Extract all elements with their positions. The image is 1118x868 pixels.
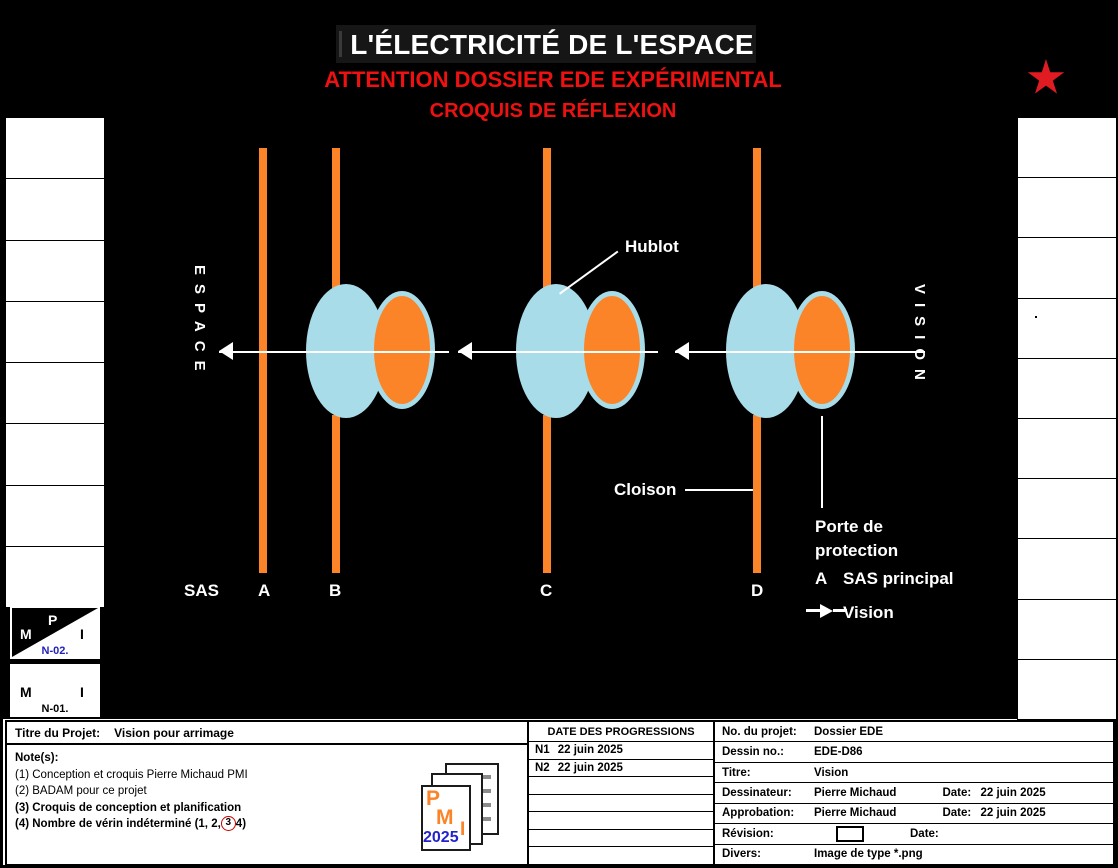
legend-vision-label: Vision (843, 603, 894, 623)
info-value-title: Vision (814, 767, 848, 779)
right-grid-cell[interactable] (1018, 660, 1116, 719)
callout-porte-line2: protection (815, 541, 898, 561)
right-grid-dot-mark (1035, 316, 1037, 318)
pmi-icon-letter-m: M (436, 806, 454, 830)
logo-n02-tag: N-02. (12, 645, 98, 657)
left-grid-cell[interactable] (6, 179, 104, 240)
right-grid-cell[interactable] (1018, 359, 1116, 419)
label-vision-text: VISION (907, 284, 931, 389)
wall-B-lower (332, 415, 340, 573)
label-vision: VISION (906, 284, 932, 397)
project-title-value: Vision pour arrimage (114, 726, 234, 740)
progression-date: 22 juin 2025 (558, 744, 623, 756)
pmi-document-icon: P M I 2025 (419, 761, 501, 853)
right-grid-cell[interactable] (1018, 178, 1116, 238)
porte-leader (821, 416, 823, 508)
left-grid-cell[interactable] (6, 363, 104, 424)
note-4-suffix-a: (1, 2, (195, 818, 221, 830)
title-banner: L'ÉLECTRICITÉ DE L'ESPACE ATTENTION DOSS… (3, 3, 1115, 129)
info-row-draftsman[interactable]: Dessinateur: Pierre Michaud Date: 22 jui… (715, 783, 1113, 803)
left-grid-cell[interactable] (6, 547, 104, 607)
right-grid-cell[interactable] (1018, 238, 1116, 298)
progression-date: 22 juin 2025 (558, 762, 623, 774)
info-key-draftsman: Dessinateur: (722, 787, 814, 799)
info-row-title[interactable]: Titre: Vision (715, 763, 1113, 783)
right-grid-cell[interactable] (1018, 539, 1116, 599)
cloison-leader (685, 489, 753, 491)
info-key-drawing-number: Dessin no.: (722, 746, 814, 758)
info-key-title: Titre: (722, 767, 814, 779)
info-value-approval: Pierre Michaud (814, 807, 896, 819)
info-key-project-number: No. du projet: (722, 726, 814, 738)
title-block: Titre du Projet: Vision pour arrimage No… (5, 720, 1115, 866)
logo-n02-letter-i: I (80, 626, 84, 642)
right-grid-cell[interactable] (1018, 600, 1116, 660)
info-row-approval[interactable]: Approbation: Pierre Michaud Date: 22 jui… (715, 804, 1113, 824)
title-block-left: Titre du Projet: Vision pour arrimage No… (5, 720, 529, 866)
info-key-approval: Approbation: (722, 807, 814, 819)
progressions-table: DATE DES PROGRESSIONS N1 22 juin 2025 N2… (529, 720, 715, 866)
callout-cloison: Cloison (614, 480, 676, 500)
title-tick-mark (339, 31, 342, 57)
axis-line-seg1 (219, 351, 449, 353)
progression-row[interactable] (529, 795, 713, 813)
diagram-canvas: L'ÉLECTRICITÉ DE L'ESPACE ATTENTION DOSS… (3, 3, 1115, 719)
info-row-drawing-number[interactable]: Dessin no.: EDE-D86 (715, 742, 1113, 762)
page-title: L'ÉLECTRICITÉ DE L'ESPACE (343, 28, 761, 62)
right-margin-grid (1017, 117, 1117, 720)
info-value-drawing-number: EDE-D86 (814, 746, 863, 758)
left-margin-grid (5, 117, 105, 608)
flow-arrow-1 (219, 342, 233, 360)
info-key-revision-date: Date: (910, 828, 948, 840)
wall-A (259, 148, 267, 573)
logo-n01-tag: N-01. (12, 703, 98, 715)
flow-arrow-3 (675, 342, 689, 360)
station-label-sas: SAS (184, 581, 219, 601)
pmi-logo-n01[interactable]: M P I N-01. (10, 664, 100, 717)
left-grid-cell[interactable] (6, 241, 104, 302)
left-grid-cell[interactable] (6, 424, 104, 485)
legend-sas-key: A (815, 569, 827, 589)
warning-title: ATTENTION DOSSIER EDE EXPÉRIMENTAL (243, 67, 863, 93)
info-key-approval-date: Date: (942, 807, 980, 819)
label-espace-text: ESPACE (187, 265, 211, 380)
station-label-d: D (751, 581, 763, 601)
left-grid-cell[interactable] (6, 486, 104, 547)
progression-id: N2 (535, 762, 550, 774)
right-grid-cell[interactable] (1018, 479, 1116, 539)
pmi-logo-n02[interactable]: M P I N-02. (10, 606, 100, 659)
info-key-draftsman-date: Date: (942, 787, 980, 799)
project-title-key: Titre du Projet: (15, 726, 100, 740)
info-key-revision: Révision: (722, 828, 814, 840)
info-value-draftsman: Pierre Michaud (814, 787, 896, 799)
pmi-icon-letter-i: I (460, 819, 465, 841)
axis-line-seg2 (458, 351, 658, 353)
wall-D-lower (753, 415, 761, 573)
progression-row[interactable] (529, 847, 713, 864)
note-4-suffix-b: 4) (236, 818, 246, 830)
progression-row[interactable]: N2 22 juin 2025 (529, 760, 713, 778)
callout-porte-line1: Porte de (815, 517, 883, 537)
legend-vision-arrow-icon (806, 604, 848, 618)
station-label-a: A (258, 581, 270, 601)
module-2-door (579, 291, 645, 409)
revision-checkbox[interactable] (836, 826, 864, 842)
progression-row[interactable] (529, 830, 713, 848)
drawing-sheet: L'ÉLECTRICITÉ DE L'ESPACE ATTENTION DOSS… (0, 0, 1118, 868)
note-4-text: (4) Nombre de vérin indéterminé (15, 818, 191, 830)
wall-B-upper (332, 148, 340, 288)
note-4-circled-three: 3 (221, 816, 236, 831)
progression-row[interactable]: N1 22 juin 2025 (529, 742, 713, 760)
label-espace: ESPACE (186, 265, 212, 388)
subtitle: CROQUIS DE RÉFLEXION (243, 99, 863, 123)
progression-id: N1 (535, 744, 550, 756)
progressions-header: DATE DES PROGRESSIONS (529, 722, 713, 742)
info-value-draftsman-date: 22 juin 2025 (980, 787, 1045, 799)
station-label-c: C (540, 581, 552, 601)
project-title-row: Titre du Projet: Vision pour arrimage (7, 722, 527, 745)
wall-C-upper (543, 148, 551, 288)
logo-n01-letter-i: I (80, 684, 84, 700)
right-grid-cell[interactable] (1018, 299, 1116, 359)
wall-C-lower (543, 415, 551, 573)
logo-n01-letter-p: P (48, 669, 57, 685)
wall-D-upper (753, 148, 761, 288)
left-grid-cell[interactable] (6, 302, 104, 363)
flow-arrow-2 (458, 342, 472, 360)
info-row-misc[interactable]: Divers: Image de type *.png (715, 845, 1113, 864)
info-value-project-number: Dossier EDE (814, 726, 883, 738)
callout-hublot: Hublot (625, 237, 679, 257)
progression-row[interactable] (529, 777, 713, 795)
info-value-misc: Image de type *.png (814, 848, 923, 860)
pmi-icon-year: 2025 (423, 829, 459, 847)
logo-n01-letter-m: M (20, 684, 32, 700)
station-label-b: B (329, 581, 341, 601)
left-grid-cell[interactable] (6, 118, 104, 179)
drawing-info-table: No. du projet: Dossier EDE Dessin no.: E… (715, 720, 1115, 866)
notes-area: Note(s): (1) Conception et croquis Pierr… (7, 745, 527, 864)
right-grid-cell[interactable] (1018, 118, 1116, 178)
info-value-approval-date: 22 juin 2025 (980, 807, 1045, 819)
logo-n02-letter-m: M (20, 626, 32, 642)
axis-line-seg3 (675, 351, 865, 353)
info-key-misc: Divers: (722, 848, 814, 860)
info-row-project-number[interactable]: No. du projet: Dossier EDE (715, 722, 1113, 742)
legend-sas-label: SAS principal (843, 569, 954, 589)
logo-n02-letter-p: P (48, 612, 57, 628)
info-row-revision[interactable]: Révision: Date: (715, 824, 1113, 844)
module-1-door (369, 291, 435, 409)
progression-row[interactable] (529, 812, 713, 830)
right-grid-cell[interactable] (1018, 419, 1116, 479)
module-3-door (789, 291, 855, 409)
